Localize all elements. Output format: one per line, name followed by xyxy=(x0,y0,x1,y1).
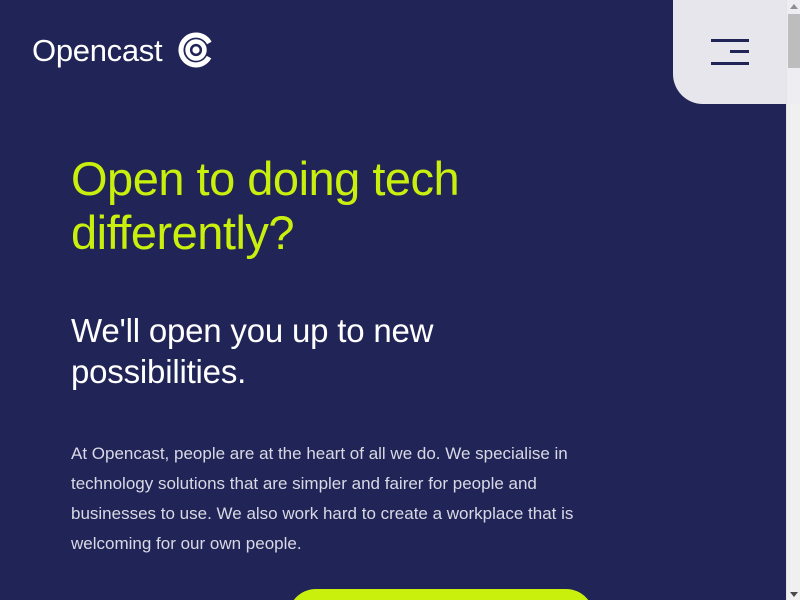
scroll-up-arrow-glyph xyxy=(790,4,798,9)
menu-button[interactable] xyxy=(673,0,786,104)
hero-section: Open to doing tech differently? We'll op… xyxy=(71,152,691,560)
opencast-logo-mark xyxy=(175,29,217,71)
page-content: Opencast Open to doi xyxy=(0,0,786,600)
scroll-up-arrow[interactable] xyxy=(787,0,800,13)
scroll-down-arrow-glyph xyxy=(790,592,798,597)
scrollbar-thumb[interactable] xyxy=(788,14,800,68)
hero-cta-button[interactable] xyxy=(288,589,594,600)
menu-bar-bottom xyxy=(711,62,749,65)
hamburger-menu-icon xyxy=(711,39,749,65)
brand-wordmark: Opencast xyxy=(32,35,162,66)
browser-viewport: Opencast Open to doi xyxy=(0,0,800,600)
site-header: Opencast xyxy=(0,0,786,104)
hero-subheading: We'll open you up to new possibilities. xyxy=(71,260,491,393)
menu-bar-top xyxy=(711,39,749,42)
brand-logo-link[interactable]: Opencast xyxy=(32,29,217,71)
hero-headline: Open to doing tech differently? xyxy=(71,152,591,260)
hero-body-text: At Opencast, people are at the heart of … xyxy=(71,393,601,560)
menu-bar-middle xyxy=(730,50,749,53)
vertical-scrollbar[interactable] xyxy=(786,0,800,600)
scroll-down-arrow[interactable] xyxy=(787,587,800,600)
